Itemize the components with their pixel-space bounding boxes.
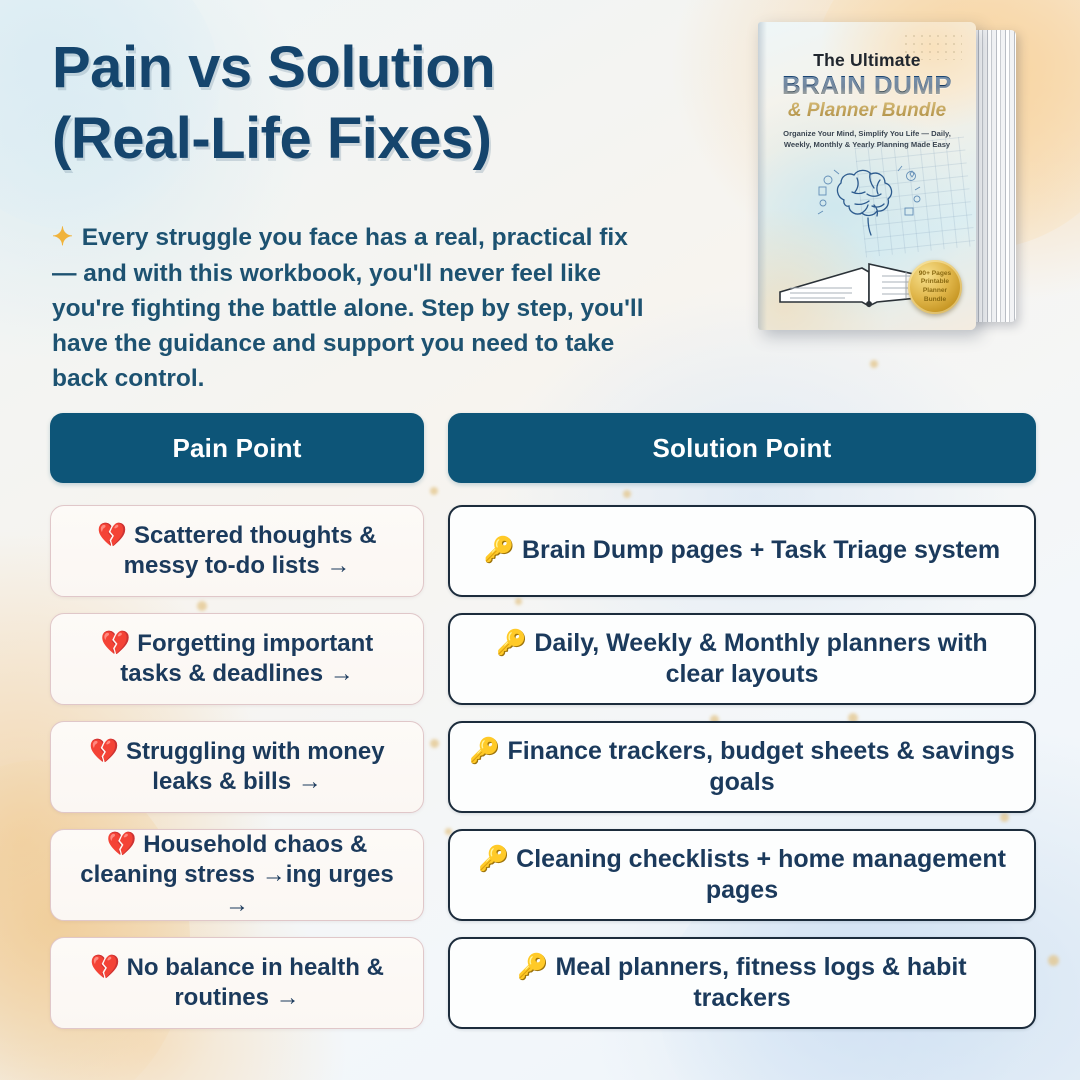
pain-card: 💔 Struggling with money leaks & bills → (50, 721, 424, 813)
pain-card: 💔 Scattered thoughts & messy to-do lists… (50, 505, 424, 597)
broken-heart-icon: 💔 (89, 738, 119, 765)
book-tagline: Organize Your Mind, Simplify You Life — … (780, 128, 954, 151)
pain-card-text: Scattered thoughts & messy to-do lists → (124, 522, 377, 579)
solution-card-list: 🔑 Brain Dump pages + Task Triage system … (448, 505, 1036, 1029)
key-icon: 🔑 (469, 737, 500, 765)
solution-column: Solution Point 🔑 Brain Dump pages + Task… (448, 413, 1036, 1029)
confetti-dot (430, 487, 438, 495)
page-title: Pain vs Solution (Real-Life Fixes) (52, 38, 712, 168)
key-icon: 🔑 (478, 845, 509, 873)
book-title-small: The Ultimate (758, 50, 976, 71)
solution-card-text: Daily, Weekly & Monthly planners with cl… (534, 629, 987, 688)
confetti-dot (430, 739, 439, 748)
book-title-main: BRAIN DUMP (758, 70, 976, 101)
solution-card: 🔑 Brain Dump pages + Task Triage system (448, 505, 1036, 597)
key-icon: 🔑 (517, 953, 548, 981)
infographic-canvas: Pain vs Solution (Real-Life Fixes) ✦ Eve… (0, 0, 1080, 1080)
product-book-mockup: The Ultimate BRAIN DUMP & Planner Bundle… (758, 22, 1016, 332)
page-title-line-1: Pain vs Solution (52, 35, 495, 100)
pain-card: 💔 No balance in health & routines → (50, 937, 424, 1029)
pain-card-list: 💔 Scattered thoughts & messy to-do lists… (50, 505, 424, 1029)
intro-text: Every struggle you face has a real, prac… (52, 224, 644, 392)
broken-heart-icon: 💔 (107, 831, 137, 858)
pain-card: 💔 Household chaos & cleaning stress →ing… (50, 829, 424, 921)
solution-card-text: Brain Dump pages + Task Triage system (522, 536, 1000, 564)
solution-card-text: Finance trackers, budget sheets & saving… (507, 737, 1014, 796)
broken-heart-icon: 💔 (90, 954, 120, 981)
confetti-dot (870, 360, 878, 368)
pages-badge: 90+ Pages Printable Planner Bundle (908, 260, 962, 314)
solution-card-text: Meal planners, fitness logs & habit trac… (555, 953, 966, 1012)
pain-card-text: Struggling with money leaks & bills → (126, 738, 385, 795)
broken-heart-icon: 💔 (97, 522, 127, 549)
pain-card: 💔 Forgetting important tasks & deadlines… (50, 613, 424, 705)
intro-paragraph: ✦ Every struggle you face has a real, pr… (52, 220, 652, 396)
solution-card: 🔑 Finance trackers, budget sheets & savi… (448, 721, 1036, 813)
book-cover: The Ultimate BRAIN DUMP & Planner Bundle… (758, 22, 976, 330)
book-page-edges (970, 30, 1016, 322)
key-icon: 🔑 (484, 536, 515, 564)
book-title-sub: & Planner Bundle (758, 100, 976, 122)
solution-card: 🔑 Cleaning checklists + home management … (448, 829, 1036, 921)
key-icon: 🔑 (496, 629, 527, 657)
solution-column-header: Solution Point (448, 413, 1036, 483)
solution-card: 🔑 Daily, Weekly & Monthly planners with … (448, 613, 1036, 705)
broken-heart-icon: 💔 (101, 630, 131, 657)
pain-card-text: Forgetting important tasks & deadlines → (120, 630, 373, 687)
pain-column-header: Pain Point (50, 413, 424, 483)
solution-card: 🔑 Meal planners, fitness logs & habit tr… (448, 937, 1036, 1029)
pain-card-text: No balance in health & routines → (127, 954, 384, 1011)
sparkle-icon: ✦ (52, 223, 75, 251)
page-title-line-2: (Real-Life Fixes) (52, 109, 712, 168)
solution-card-text: Cleaning checklists + home management pa… (516, 845, 1006, 904)
confetti-dot (1048, 955, 1059, 966)
pain-column: Pain Point 💔 Scattered thoughts & messy … (50, 413, 424, 1029)
